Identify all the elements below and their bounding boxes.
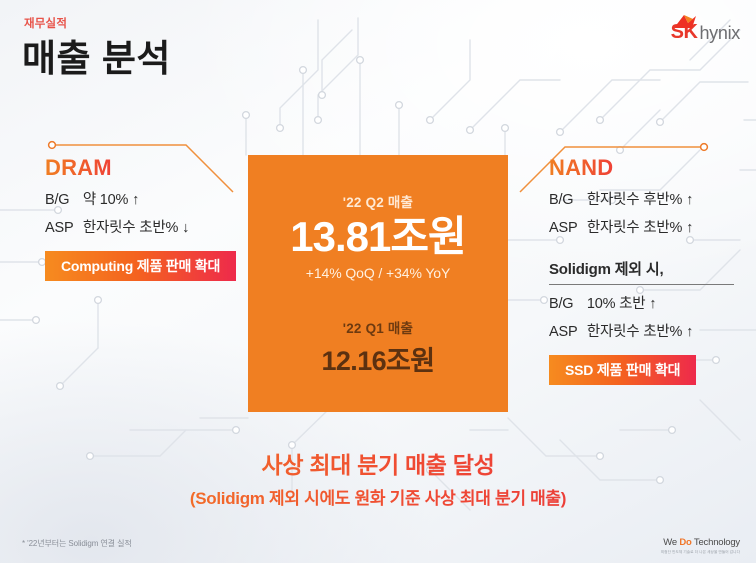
q2-revenue-label: '22 Q2 매출 xyxy=(343,191,413,211)
sk-hynix-logo: SK hynix xyxy=(671,12,740,42)
nand-stat-asp: ASP 한자릿수 초반% ↑ xyxy=(549,216,734,237)
solidigm-stat-bg-key: B/G xyxy=(549,296,583,312)
solidigm-divider xyxy=(549,284,734,285)
nand-stat-asp-value: 한자릿수 초반% xyxy=(587,220,682,236)
dram-stat-asp-arrow: ↓ xyxy=(182,220,189,236)
nand-panel: NAND B/G 한자릿수 후반% ↑ ASP 한자릿수 초반% ↑ Solid… xyxy=(549,155,734,385)
wedo-sub-text: 최첨단 반도체 기술로 더 나은 세상을 만들어 갑니다 xyxy=(661,550,740,554)
footnote-text: * '22년부터는 Solidigm 연결 실적 xyxy=(22,538,132,549)
dram-stat-bg: B/G 약 10% ↑ xyxy=(45,188,236,209)
nand-stat-bg-key: B/G xyxy=(549,192,583,208)
dram-panel: DRAM B/G 약 10% ↑ ASP 한자릿수 초반% ↓ Computin… xyxy=(45,155,236,281)
bottom-headline: 사상 최대 분기 매출 달성 xyxy=(0,446,756,480)
solidigm-stat-bg: B/G 10% 초반 ↑ xyxy=(549,292,734,313)
solidigm-stat-asp-value: 한자릿수 초반% xyxy=(587,324,682,340)
solidigm-stat-bg-value: 10% 초반 xyxy=(587,296,646,312)
dram-stat-asp-value: 한자릿수 초반% xyxy=(83,220,178,236)
q1-revenue-value: 12.16조원 xyxy=(321,339,434,378)
solidigm-stat-asp: ASP 한자릿수 초반% ↑ xyxy=(549,320,734,341)
solidigm-note: Solidigm 제외 시, xyxy=(549,258,734,279)
dram-cta-badge[interactable]: Computing 제품 판매 확대 xyxy=(45,251,236,281)
wedo-main-text: We Do Technology xyxy=(661,538,740,549)
solidigm-stat-bg-arrow: ↑ xyxy=(649,296,656,312)
q2-revenue-value: 13.81조원 xyxy=(290,213,465,260)
nand-stat-asp-arrow: ↑ xyxy=(686,220,693,236)
wedo-technology-lockup: We Do Technology 최첨단 반도체 기술로 더 나은 세상을 만들… xyxy=(661,538,740,554)
logo-hynix-text: hynix xyxy=(699,24,740,42)
dram-stat-asp: ASP 한자릿수 초반% ↓ xyxy=(45,216,236,237)
wedo-do-text: Do xyxy=(679,537,691,548)
solidigm-stat-asp-arrow: ↑ xyxy=(686,324,693,340)
slide-root: 재무실적 매출 분석 SK hynix '22 Q2 매출 13.81조원 +1… xyxy=(0,0,756,563)
page-title: 매출 분석 xyxy=(22,28,171,82)
nand-stat-bg-value: 한자릿수 후반% xyxy=(587,192,682,208)
dram-title: DRAM xyxy=(45,155,112,181)
dram-stat-bg-arrow: ↑ xyxy=(132,192,139,208)
dram-stat-asp-key: ASP xyxy=(45,220,79,236)
bottom-subline: (Solidigm 제외 시에도 원화 기준 사상 최대 분기 매출) xyxy=(0,484,756,509)
nand-stat-bg-arrow: ↑ xyxy=(686,192,693,208)
nand-cta-badge[interactable]: SSD 제품 판매 확대 xyxy=(549,355,696,385)
wedo-we-text: We xyxy=(663,537,679,548)
dram-stat-bg-key: B/G xyxy=(45,192,79,208)
dram-stat-bg-value: 약 10% xyxy=(83,192,128,208)
nand-stat-asp-key: ASP xyxy=(549,220,583,236)
q2-revenue-growth: +14% QoQ / +34% YoY xyxy=(306,265,450,281)
nand-title: NAND xyxy=(549,155,613,181)
solidigm-stat-asp-key: ASP xyxy=(549,324,583,340)
nand-stat-bg: B/G 한자릿수 후반% ↑ xyxy=(549,188,734,209)
wedo-tech-text: Technology xyxy=(692,537,740,548)
q1-revenue-label: '22 Q1 매출 xyxy=(343,317,413,337)
revenue-highlight-box: '22 Q2 매출 13.81조원 +14% QoQ / +34% YoY '2… xyxy=(248,155,508,412)
sk-hynix-mark-icon xyxy=(672,14,698,30)
